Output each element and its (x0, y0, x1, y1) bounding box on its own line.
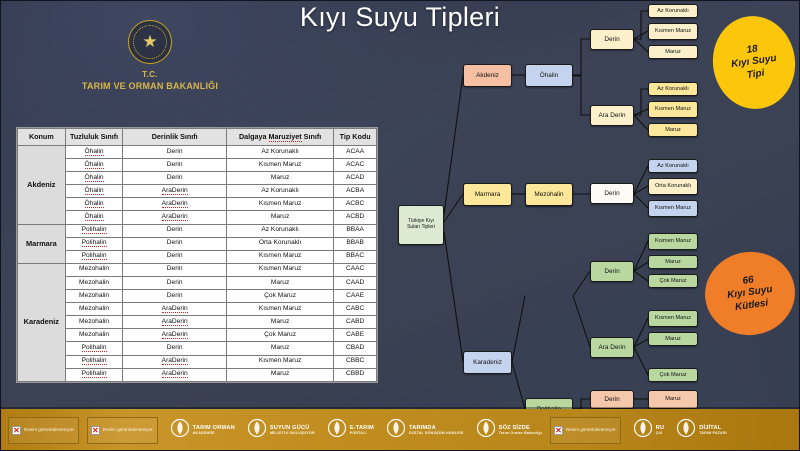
tree-node-ak-arad: Ara Derin (590, 105, 634, 126)
logo-subtitle: TARIM PAZARI (699, 431, 727, 435)
suyun-gucu-icon (247, 418, 267, 443)
tree-node-label: Öhalin (540, 72, 558, 79)
dijital-tarim-pazari-icon (676, 418, 696, 443)
soz-sizde-icon (476, 418, 496, 443)
tree-node-karadeniz: Karadeniz (463, 351, 512, 374)
tree-node-label: Derin (604, 36, 619, 43)
tree-node-label: Türkiye Kıyı Suları Tipleri (401, 219, 441, 231)
tree-node-label: Derin (604, 268, 619, 275)
tree-node-ka-m-derin: Derin (590, 261, 634, 282)
e-tarim-portali-text: E-TARIMPORTALI (350, 425, 374, 436)
tree-node-label: Karadeniz (473, 359, 502, 366)
tree-node-ka-m-a-1: Kısmen Maruz (648, 310, 698, 327)
broken-image-2: ✕Resim görüntülenemiyor. (87, 417, 158, 444)
callout-18-line2: Tipi (746, 67, 765, 82)
tree-node-ak-derin: Derin (590, 29, 634, 50)
tree-node-ma-3: Kısmen Maruz (648, 200, 698, 217)
dijital-tarim-pazari-text: DİJİTALTARIM PAZARI (699, 425, 727, 436)
soz-sizde-text: SÖZ SİZDETarım Orman Bakanlığı (499, 425, 542, 436)
tarimda-dijital-donusum-text: TARIMDADİJİTAL DÖNÜŞÜM HAMLESİ (409, 425, 464, 436)
logo-subtitle: DİJİTAL DÖNÜŞÜM HAMLESİ (409, 431, 464, 435)
slide-canvas: Kıyı Suyu Tipleri ★ T.C. TARIM VE ORMAN … (0, 0, 800, 451)
suyun-gucu: SUYUN GÜCÜMİLLETLE BULUŞUYOR (247, 418, 315, 443)
logo-subtitle: Tarım Orman Bakanlığı (499, 431, 542, 435)
tarim-orman-akademisi-text: TARIM ORMANAKADEMİSİ (193, 425, 235, 436)
tree-node-label: Mezohalin (534, 191, 563, 198)
suyun-gucu-text: SUYUN GÜCÜMİLLETLE BULUŞUYOR (270, 425, 315, 436)
tarim-kredi-kooperatifleri: RUÇIK (633, 418, 664, 443)
tree-node-ak-d-3: Maruz (648, 45, 698, 59)
tree-node-label: Maruz (665, 396, 681, 402)
tree-node-label: Marmara (475, 191, 501, 198)
broken-image-icon: ✕ (12, 426, 21, 435)
tree-node-ka-mezo: Mezohalin (525, 183, 573, 206)
tree-node-ak-d-2: Kısmen Maruz (648, 23, 698, 40)
tree-node-label: Az Korunaklı (657, 163, 689, 169)
tree-node-label: Az Korunaklı (657, 8, 689, 14)
tree-node-label: Ara Derin (599, 112, 626, 119)
tree-node-label: Kısmen Maruz (655, 238, 691, 244)
tree-node-label: Az Korunaklı (657, 86, 689, 92)
logo-subtitle: PORTALI (350, 431, 374, 435)
tree-node-ka-m-d-2: Maruz (648, 255, 698, 269)
tree-node-label: Kısmen Maruz (655, 28, 691, 34)
tree-node-ak-ohalin: Öhalin (525, 64, 573, 87)
broken-image-label: Resim görüntülenemiyor. (566, 427, 617, 433)
tree-node-akdeniz: Akdeniz (463, 64, 512, 87)
tarim-kredi-kooperatifleri-icon (633, 418, 653, 443)
logo-title: E-TARIM (350, 425, 374, 432)
tree-node-label: Çok Maruz (659, 278, 686, 284)
footer-logo-bar: ✕Resim görüntülenemiyor.✕Resim görüntüle… (0, 409, 800, 451)
e-tarim-portali-icon (327, 418, 347, 443)
tree-node-ma-1: Az Korunaklı (648, 159, 698, 173)
tree-node-ma-derin: Derin (590, 183, 634, 204)
dijital-tarim-pazari: DİJİTALTARIM PAZARI (676, 418, 727, 443)
tarimda-dijital-donusum: TARIMDADİJİTAL DÖNÜŞÜM HAMLESİ (386, 418, 464, 443)
classification-tree: Türkiye Kıyı Suları TipleriAkdenizMarmar… (0, 0, 800, 451)
tree-node-ka-m-a-2: Maruz (648, 332, 698, 346)
tarim-orman-akademisi-icon (170, 418, 190, 443)
tree-node-label: Akdeniz (476, 72, 499, 79)
tree-node-label: Ara Derin (599, 344, 626, 351)
tree-node-label: Orta Korunaklı (655, 183, 691, 189)
tree-node-label: Maruz (665, 336, 681, 342)
logo-title: SUYUN GÜCÜ (270, 425, 315, 432)
tree-node-label: Maruz (665, 49, 681, 55)
logo-title: RU (656, 425, 664, 432)
broken-image-3: ✕Resim görüntülenemiyor. (550, 417, 621, 444)
logo-title: TARIM ORMAN (193, 425, 235, 432)
broken-image-1: ✕Resim görüntülenemiyor. (8, 417, 79, 444)
tree-node-ka-m-d-3: Çok Maruz (648, 274, 698, 288)
tree-node-ak-d-1: Az Korunaklı (648, 4, 698, 18)
logo-subtitle: AKADEMİSİ (193, 431, 235, 435)
tree-node-label: Derin (604, 190, 619, 197)
broken-image-icon: ✕ (554, 426, 563, 435)
e-tarim-portali: E-TARIMPORTALI (327, 418, 374, 443)
broken-image-label: Resim görüntülenemiyor. (24, 427, 75, 433)
tree-node-ak-a-3: Maruz (648, 123, 698, 137)
tree-node-ma-2: Orta Korunaklı (648, 178, 698, 195)
tree-node-label: Kısmen Maruz (655, 106, 691, 112)
tree-node-label: Maruz (665, 259, 681, 265)
tree-node-label: Kısmen Maruz (655, 205, 691, 211)
tree-node-label: Derin (604, 396, 619, 403)
soz-sizde: SÖZ SİZDETarım Orman Bakanlığı (476, 418, 542, 443)
tarimda-dijital-donusum-icon (386, 418, 406, 443)
broken-image-icon: ✕ (91, 426, 100, 435)
tree-node-ka-m-arad: Ara Derin (590, 337, 634, 358)
tree-node-ak-a-1: Az Korunaklı (648, 82, 698, 96)
tarim-kredi-kooperatifleri-text: RUÇIK (656, 425, 664, 436)
tree-node-ka-m-a-3: Çok Maruz (648, 368, 698, 382)
tree-node-label: Kısmen Maruz (655, 315, 691, 321)
logo-subtitle: MİLLETLE BULUŞUYOR (270, 431, 315, 435)
tree-node-label: Maruz (665, 127, 681, 133)
logo-title: SÖZ SİZDE (499, 425, 542, 432)
tree-node-ak-a-2: Kısmen Maruz (648, 101, 698, 118)
tree-node-root: Türkiye Kıyı Suları Tipleri (398, 205, 444, 245)
logo-title: DİJİTAL (699, 425, 727, 432)
logo-subtitle: ÇIK (656, 431, 664, 435)
tarim-orman-akademisi: TARIM ORMANAKADEMİSİ (170, 418, 235, 443)
broken-image-label: Resim görüntülenemiyor. (103, 427, 154, 433)
tree-node-marmara: Marmara (463, 183, 512, 206)
tree-node-ka-m-d-1: Kısmen Maruz (648, 233, 698, 250)
tree-node-label: Çok Maruz (659, 372, 686, 378)
